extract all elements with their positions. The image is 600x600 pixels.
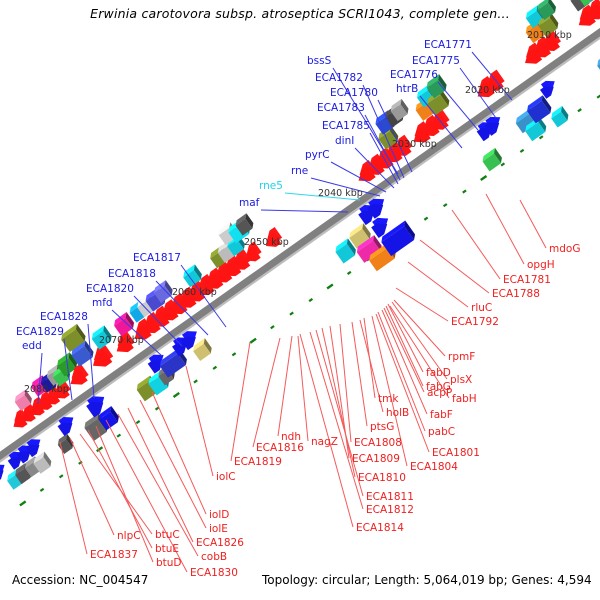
gene-label[interactable]: cobB [201,551,227,563]
gene-leader-line [486,194,524,264]
gene-box-glyph[interactable] [480,148,504,171]
gene-label[interactable]: maf [239,197,260,209]
gene-label[interactable]: edd [22,340,42,352]
scale-tick-mark [40,489,43,491]
gene-label[interactable]: ECA1826 [196,537,244,549]
scale-tick-mark [232,353,235,355]
scale-tick-mark [520,150,523,152]
gene-label[interactable]: plsX [450,374,472,386]
gene-leader-line [278,336,292,436]
scale-tick-mark [20,501,26,505]
gene-label[interactable]: btuE [155,543,179,555]
gene-label[interactable]: ECA1814 [356,522,404,534]
scale-tick-mark [156,407,159,409]
gene-label[interactable]: rne [291,165,308,177]
scale-tick-mark [501,163,504,165]
gene-label[interactable]: ECA1776 [390,69,438,81]
gene-label[interactable]: ECA1820 [86,283,134,295]
gene-label[interactable]: ECA1828 [40,311,88,323]
scale-tick-mark [60,475,63,477]
gene-leader-line [396,288,448,321]
scale-tick-mark [117,434,120,436]
gene-label[interactable]: ECA1809 [352,453,400,465]
gene-label[interactable]: nlpC [117,530,141,542]
gene-label[interactable]: mdoG [549,243,580,255]
gene-label[interactable]: ECA1785 [322,120,370,132]
gene-label[interactable]: iolE [209,523,228,535]
gene-box-glyph[interactable] [595,52,600,75]
gene-label[interactable]: pabC [428,426,455,438]
gene-label[interactable]: ECA1788 [492,288,540,300]
scale-tick-mark [290,312,293,314]
gene-leader-line [322,328,355,477]
gene-leader-line [140,400,206,528]
scale-marker-label: 2060 kbp [172,287,217,298]
gene-label[interactable]: bssS [307,55,332,67]
scale-tick-mark [540,136,543,138]
gene-label[interactable]: ECA1818 [108,268,156,280]
gene-label[interactable]: ECA1829 [16,326,64,338]
scale-tick-mark [444,204,447,206]
gene-label[interactable]: holB [386,407,409,419]
gene-leader-line [261,210,348,212]
gene-leader-line [408,262,468,307]
scale-tick-mark [309,299,312,301]
gene-leader-line [60,442,87,554]
gene-label[interactable]: ECA1771 [424,39,472,51]
gene-label[interactable]: ECA1819 [234,456,282,468]
gene-leader-line [340,324,351,442]
reverse-strand-features [0,52,600,490]
gene-label[interactable]: acpP [427,387,452,399]
gene-box-glyph[interactable] [549,106,571,127]
gene-label[interactable]: rne5 [259,180,283,192]
gene-label[interactable]: ECA1812 [366,504,414,516]
scale-marker-label: 2080 kbp [24,384,69,395]
scale-tick-mark [271,326,274,328]
gene-label[interactable]: tmk [378,393,399,405]
accession-status: Accession: NC_004547 [12,573,148,587]
gene-leader-line [152,392,206,514]
gene-leader-line [186,366,213,476]
gene-leader-line [394,300,445,356]
scale-tick-mark [213,367,216,369]
gene-label[interactable]: ECA1804 [410,461,458,473]
scale-marker-label: 2010 kbp [527,30,572,41]
gene-label[interactable]: ECA1780 [330,87,378,99]
gene-label[interactable]: rluC [471,302,492,314]
gene-leader-line [298,336,308,441]
gene-label[interactable]: mfd [92,297,113,309]
scale-marker-label: 2040 kbp [318,188,363,199]
gene-leader-line [316,330,363,496]
gene-label[interactable]: opgH [527,259,555,271]
gene-label[interactable]: htrB [396,83,418,95]
gene-label[interactable]: ptsG [370,421,394,433]
gene-label[interactable]: iolC [216,471,236,483]
gene-label[interactable]: iolD [209,509,229,521]
genome-map-canvas[interactable]: 2010 kbp2020 kbp2030 kbp2040 kbp2050 kbp… [0,0,600,600]
scale-tick-mark [174,393,180,397]
gene-label[interactable]: ECA1782 [315,72,363,84]
scale-marker-label: 2070 kbp [99,335,144,346]
gene-label[interactable]: ECA1830 [190,567,238,579]
scale-tick-mark [136,421,139,423]
gene-label[interactable]: ECA1810 [358,472,406,484]
gene-leader-line [253,338,280,447]
gene-label[interactable]: rpmF [448,351,475,363]
scale-tick-mark [348,272,351,274]
scale-tick-mark [424,218,427,220]
gene-label[interactable]: fabD [426,367,451,379]
gene-label[interactable]: ECA1837 [90,549,138,561]
gene-label[interactable]: btuC [155,529,180,541]
gene-label[interactable]: ECA1781 [503,274,551,286]
gene-leader-line [231,342,250,461]
scale-tick-mark [463,190,466,192]
genome-map-viewer: Erwinia carotovora subsp. atroseptica SC… [0,0,600,600]
gene-label[interactable]: fabF [430,409,453,421]
scale-marker-label: 2020 kbp [465,85,510,96]
gene-label[interactable]: pyrC [305,149,330,161]
genome-stats-status: Topology: circular; Length: 5,064,019 bp… [262,573,592,587]
scale-labels: 2010 kbp2020 kbp2030 kbp2040 kbp2050 kbp… [24,30,572,395]
forward-strand-features [8,0,600,432]
scale-tick-mark [250,339,256,343]
scale-tick-mark [481,176,487,180]
gene-label[interactable]: ECA1817 [133,252,181,264]
scale-tick-mark [194,380,197,382]
scale-tick-mark [327,284,333,288]
gene-label[interactable]: nagZ [311,436,338,448]
gene-label[interactable]: fabH [452,393,477,405]
gene-leader-line [452,210,500,279]
gene-leader-line [310,332,363,509]
gene-label[interactable]: btuD [156,557,182,569]
gene-label[interactable]: ECA1792 [451,316,499,328]
scale-marker-label: 2050 kbp [244,237,289,248]
scale-marker-label: 2030 kbp [392,139,437,150]
gene-label[interactable]: ECA1811 [366,491,414,503]
gene-label[interactable]: ECA1808 [354,437,402,449]
gene-leader-line [520,200,546,248]
gene-label[interactable]: ECA1775 [412,55,460,67]
gene-label[interactable]: ECA1801 [432,447,480,459]
gene-label[interactable]: ECA1816 [256,442,304,454]
scale-tick-mark [578,109,581,111]
gene-label[interactable]: ECA1783 [317,102,365,114]
gene-label[interactable]: dinI [335,135,354,147]
